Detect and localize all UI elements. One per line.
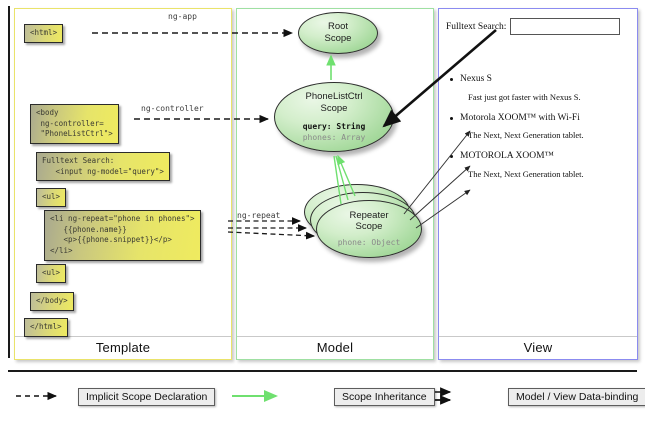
panel-model: Model	[236, 8, 434, 360]
view-label-divider	[439, 336, 637, 337]
connector-label-ng-repeat: ng-repeat	[237, 211, 280, 220]
list-item[interactable]: Nexus S Fast just got faster with Nexus …	[460, 74, 630, 103]
phone-snippet: The Next, Next Generation tablet.	[468, 169, 630, 180]
double-arrow-icon	[456, 389, 502, 405]
panel-model-label: Model	[237, 340, 433, 355]
bullet-icon	[450, 78, 453, 81]
scope-root-line2: Scope	[325, 33, 352, 45]
scope-root: Root Scope	[298, 12, 378, 54]
scope-phonelistctrl-line2: Scope	[321, 103, 348, 115]
connector-label-ng-controller: ng-controller	[141, 104, 204, 113]
bullet-icon	[450, 155, 453, 158]
phone-name: Motorola XOOM™ with Wi-Fi	[460, 113, 630, 125]
outer-left-rule	[8, 6, 10, 358]
scope-root-line1: Root	[328, 21, 348, 33]
list-item[interactable]: MOTOROLA XOOM™ The Next, Next Generation…	[460, 151, 630, 180]
scope-repeater: Repeater Scope phone: Object	[316, 200, 422, 258]
code-box-fulltext-search: Fulltext Search: <input ng-model="query"…	[36, 152, 170, 181]
diagram-canvas: Template Model View <html> <body ng-cont…	[0, 0, 645, 425]
legend-divider-rule	[8, 370, 637, 372]
code-box-ul-close: <ul>	[36, 264, 66, 283]
list-item[interactable]: Motorola XOOM™ with Wi-Fi The Next, Next…	[460, 113, 630, 142]
legend-label: Model / View Data-binding	[508, 388, 645, 406]
connector-label-ng-app: ng-app	[168, 12, 197, 21]
scope-phonelistctrl: PhoneListCtrl Scope query: String phones…	[274, 82, 394, 152]
scope-repeater-line2: Scope	[356, 221, 383, 233]
code-box-html-close: </html>	[24, 318, 68, 337]
view-search-row: Fulltext Search:	[446, 18, 620, 35]
panel-template-label: Template	[15, 340, 231, 355]
legend-label: Implicit Scope Declaration	[78, 388, 215, 406]
view-phone-list: Nexus S Fast just got faster with Nexus …	[460, 74, 630, 190]
code-box-html-open: <html>	[24, 24, 63, 43]
legend-item-scope-inheritance: Scope Inheritance	[282, 388, 435, 406]
green-arrow-icon	[282, 389, 328, 405]
view-search-label: Fulltext Search:	[446, 22, 506, 32]
phone-name: Nexus S	[460, 74, 630, 86]
code-box-body-close: </body>	[30, 292, 74, 311]
scope-prop-phones: phones: Array	[303, 133, 366, 143]
legend-item-implicit-scope-declaration: Implicit Scope Declaration	[26, 388, 215, 406]
scope-prop-phone: phone: Object	[338, 238, 401, 248]
panel-view-label: View	[439, 340, 637, 355]
scope-prop-query: query: String	[303, 122, 366, 132]
view-rendered-page: Fulltext Search: Nexus S Fast just got f…	[444, 14, 630, 334]
phone-snippet: Fast just got faster with Nexus S.	[468, 92, 630, 103]
scope-repeater-line1: Repeater	[349, 210, 388, 222]
phone-snippet: The Next, Next Generation tablet.	[468, 130, 630, 141]
code-box-li-repeat: <li ng-repeat="phone in phones"> {{phone…	[44, 210, 201, 261]
dashed-arrow-icon	[26, 389, 72, 405]
phone-name: MOTOROLA XOOM™	[460, 151, 630, 163]
view-search-input[interactable]	[510, 18, 620, 35]
scope-phonelistctrl-line1: PhoneListCtrl	[305, 91, 362, 103]
bullet-icon	[450, 117, 453, 120]
code-box-ul-open: <ul>	[36, 188, 66, 207]
legend-item-model-view-data-binding: Model / View Data-binding	[456, 388, 645, 406]
model-label-divider	[237, 336, 433, 337]
legend-label: Scope Inheritance	[334, 388, 435, 406]
code-box-body-open: <body ng-controller= "PhoneListCtrl">	[30, 104, 119, 144]
